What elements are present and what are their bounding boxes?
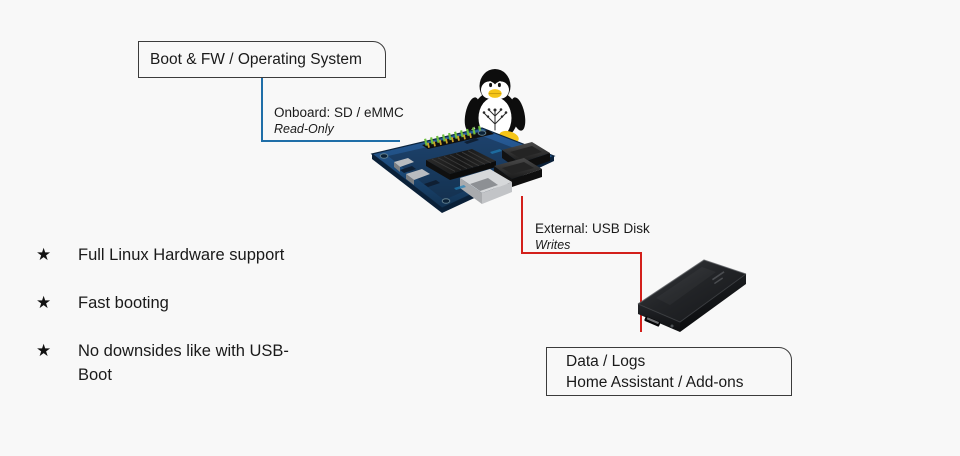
external-usb-disk-image: [616, 252, 750, 340]
list-item-label: Fast booting: [78, 291, 169, 315]
star-icon: ★: [36, 243, 78, 266]
connector-external-vertical-top: [521, 196, 523, 254]
star-icon: ★: [36, 339, 78, 362]
list-item-label: Full Linux Hardware support: [78, 243, 284, 267]
callout-box-data-logs-line1: Data / Logs: [566, 351, 791, 372]
slide-canvas: Boot & FW / Operating System Onboard: SD…: [0, 0, 960, 456]
callout-box-data-logs-line2: Home Assistant / Add-ons: [566, 372, 791, 393]
list-item: ★ Fast booting: [36, 291, 326, 315]
connector-onboard-vertical: [261, 78, 263, 142]
callout-box-data-logs: Data / Logs Home Assistant / Add-ons: [546, 347, 792, 396]
star-icon: ★: [36, 291, 78, 314]
callout-box-operating-system-label: Boot & FW / Operating System: [150, 49, 385, 70]
single-board-computer-image: [364, 112, 556, 216]
connector-label-external-subtitle: Writes: [535, 237, 650, 253]
benefits-bullet-list: ★ Full Linux Hardware support ★ Fast boo…: [36, 243, 326, 411]
list-item: ★ Full Linux Hardware support: [36, 243, 326, 267]
list-item-label: No downsides like with USB-Boot: [78, 339, 293, 387]
list-item: ★ No downsides like with USB-Boot: [36, 339, 326, 387]
callout-box-operating-system: Boot & FW / Operating System: [138, 41, 386, 78]
connector-label-external: External: USB Disk Writes: [535, 220, 650, 253]
connector-label-external-title: External: USB Disk: [535, 220, 650, 237]
